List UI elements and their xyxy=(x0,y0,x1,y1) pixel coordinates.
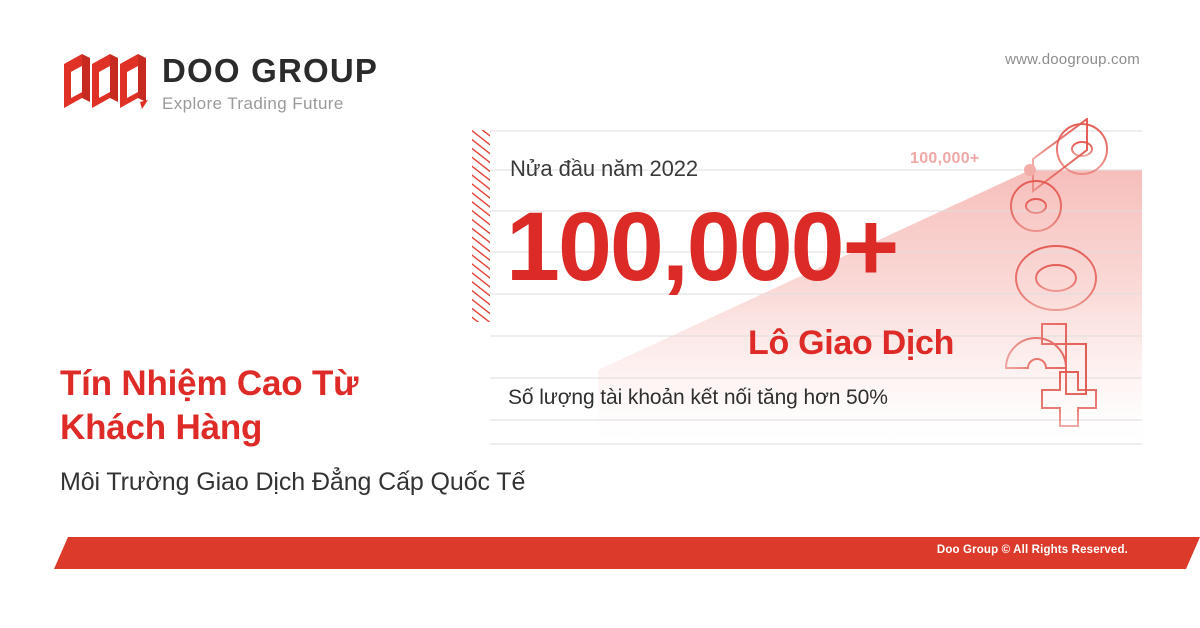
stat-chart-panel: Nửa đầu năm 2022 100,000+ 100,000+ Lô Gi… xyxy=(466,118,1142,452)
chart-period-label: Nửa đầu năm 2022 xyxy=(510,156,698,182)
stat-big-number: 100,000+ xyxy=(506,198,897,295)
stat-caption: Số lượng tài khoản kết nối tăng hơn 50% xyxy=(508,386,888,410)
brand-logo[interactable]: DOO GROUP Explore Trading Future xyxy=(62,52,378,114)
stat-unit-label: Lô Giao Dịch xyxy=(748,324,954,363)
poster-canvas: DOO GROUP Explore Trading Future www.doo… xyxy=(0,0,1200,628)
hatched-axis-strip xyxy=(472,130,490,322)
page-subtitle: Môi Trường Giao Dịch Đẳng Cấp Quốc Tế xyxy=(60,468,525,497)
page-title: Tín Nhiệm Cao Từ Khách Hàng xyxy=(60,362,480,451)
footer-copyright: Doo Group © All Rights Reserved. xyxy=(937,544,1128,556)
doo-logo-mark-icon xyxy=(62,52,148,110)
brand-text: DOO GROUP Explore Trading Future xyxy=(162,52,378,114)
chart-point-value-label: 100,000+ xyxy=(910,150,980,168)
headline-line-2: Khách Hàng xyxy=(60,408,262,447)
brand-tagline: Explore Trading Future xyxy=(162,94,378,114)
chart-data-point xyxy=(1024,164,1036,176)
headline-line-1: Tín Nhiệm Cao Từ xyxy=(60,364,358,403)
brand-wordmark: DOO GROUP xyxy=(162,52,378,89)
site-url[interactable]: www.doogroup.com xyxy=(1005,51,1140,68)
